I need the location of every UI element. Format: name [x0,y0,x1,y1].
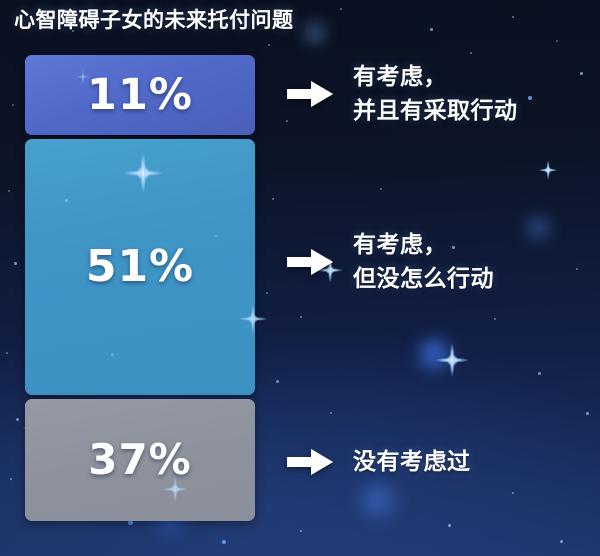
sparkle-star-icon [435,343,469,377]
legend-label-3: 没有考虑过 [353,445,471,479]
star-dot [586,412,589,415]
sparkle-star-icon [123,153,163,193]
bar-segment-1: 11% [25,55,255,135]
legend-label-1-line2: 并且有采取行动 [353,94,518,128]
star-dot [300,316,302,318]
sparkle-star-icon [238,304,268,334]
right-arrow-icon [287,447,333,477]
star-dot [330,412,332,414]
star-dot [580,72,583,75]
star-dot [276,380,279,383]
star-glow [412,332,456,376]
star-dot [430,28,433,31]
star-dot [65,199,68,202]
star-dot [10,478,12,480]
star-dot [215,235,217,237]
legend-label-2: 有考虑， 但没怎么行动 [353,228,494,296]
legend-label-2-line2: 但没怎么行动 [353,262,494,296]
bar-segment-3: 37% [25,399,255,521]
star-dot [205,415,208,418]
star-dot [272,198,274,200]
star-dot [268,44,270,46]
star-dot [111,353,114,356]
star-dot [380,188,382,190]
star-dot [8,190,10,192]
star-dot [222,540,226,544]
star-dot [59,423,62,426]
star-dot [14,262,17,265]
star-dot [528,96,532,100]
legend-row-1: 有考虑， 并且有采取行动 [287,60,518,128]
sparkle-star-icon [538,160,558,180]
legend-label-1: 有考虑， 并且有采取行动 [353,60,518,128]
star-dot [300,530,302,532]
page-title: 心智障碍子女的未来托付问题 [14,6,294,34]
star-dot [556,40,558,42]
star-glow [300,18,330,48]
star-glow [520,210,556,246]
legend-row-2: 有考虑， 但没怎么行动 [287,228,494,296]
star-dot [6,352,8,354]
star-dot [538,372,541,375]
star-dot [340,8,342,10]
star-dot [266,292,268,294]
bar-value-2: 51% [86,245,194,289]
star-dot [560,540,563,543]
star-dot [512,492,514,494]
legend-row-3: 没有考虑过 [287,445,471,479]
right-arrow-icon [287,247,333,277]
infographic-canvas: 心智障碍子女的未来托付问题 11% 51% 37% 有考虑， 并且有采取行动 [0,0,600,556]
legend-label-2-line1: 有考虑， [353,228,494,262]
bar-segment-2: 51% [25,139,255,395]
star-dot [576,268,578,270]
bar-value-1: 11% [87,74,193,117]
star-dot [494,318,496,320]
legend-label-3-line1: 没有考虑过 [353,445,471,479]
star-dot [470,52,472,54]
legend-label-1-line1: 有考虑， [353,60,518,94]
star-dot [448,524,451,527]
right-arrow-icon [287,79,333,109]
star-dot [512,16,514,18]
star-dot [12,104,14,106]
star-glow [352,474,404,526]
star-dot [16,418,19,421]
bar-value-3: 37% [88,439,192,481]
